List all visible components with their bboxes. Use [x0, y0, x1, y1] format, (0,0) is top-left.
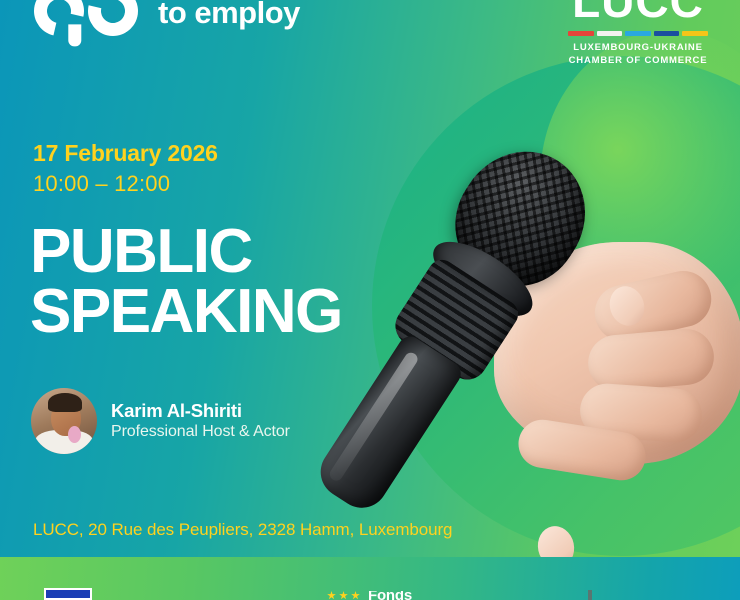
sponsor-logo-blue [44, 588, 92, 600]
speaker-role: Professional Host & Actor [111, 422, 290, 443]
event-title: PUBLIC SPEAKING [30, 222, 342, 341]
footer-band: Fonds [0, 557, 740, 600]
speaker-name: Karim Al-Shiriti [111, 399, 290, 422]
lucc-subtitle: LUXEMBOURG-UKRAINE CHAMBER OF COMMERCE [568, 42, 708, 68]
speaker-text: Karim Al-Shiriti Professional Host & Act… [111, 399, 290, 443]
employ-logo: to employ [34, 0, 300, 42]
eu-stars-icon [327, 591, 360, 600]
eu-fonds-logo: Fonds [327, 591, 412, 600]
lucc-logo: LUCC LUXEMBOURG-UKRAINE CHAMBER OF COMME… [568, 0, 708, 68]
employ-ee-mark-icon [34, 0, 142, 40]
sponsor-logo-right [588, 590, 592, 600]
lucc-color-bars [568, 31, 708, 36]
lucc-wordmark: LUCC [568, 0, 708, 24]
lucc-bar-cyan [625, 31, 651, 36]
microphone-handle [311, 332, 466, 518]
event-title-line2: SPEAKING [30, 282, 342, 342]
event-venue: LUCC, 20 Rue des Peupliers, 2328 Hamm, L… [33, 520, 452, 540]
lucc-bar-red [568, 31, 594, 36]
lucc-subtitle-line1: LUXEMBOURG-UKRAINE [568, 42, 708, 55]
eu-star-1 [327, 591, 336, 600]
event-title-line1: PUBLIC [30, 222, 342, 282]
eu-fonds-label: Fonds [368, 591, 412, 600]
event-time: 10:00 – 12:00 [33, 171, 170, 197]
eu-star-3 [351, 591, 360, 600]
lucc-bar-blue [654, 31, 680, 36]
lucc-subtitle-line2: CHAMBER OF COMMERCE [568, 55, 708, 68]
avatar-microphone [68, 426, 81, 443]
employ-logo-text: to employ [158, 0, 300, 31]
event-date: 17 February 2026 [33, 140, 218, 167]
ee-glyph-left [25, 0, 94, 45]
event-poster: to employ LUCC LUXEMBOURG-UKRAINE CHAMBE… [0, 0, 740, 600]
avatar-hair [48, 393, 82, 412]
lucc-bar-yellow [682, 31, 708, 36]
speaker-block: Karim Al-Shiriti Professional Host & Act… [31, 388, 290, 454]
ee-glyph-right [79, 0, 148, 45]
hand-holding-microphone-image [398, 150, 740, 460]
avatar [31, 388, 97, 454]
eu-star-2 [339, 591, 348, 600]
lucc-bar-white [597, 31, 623, 36]
